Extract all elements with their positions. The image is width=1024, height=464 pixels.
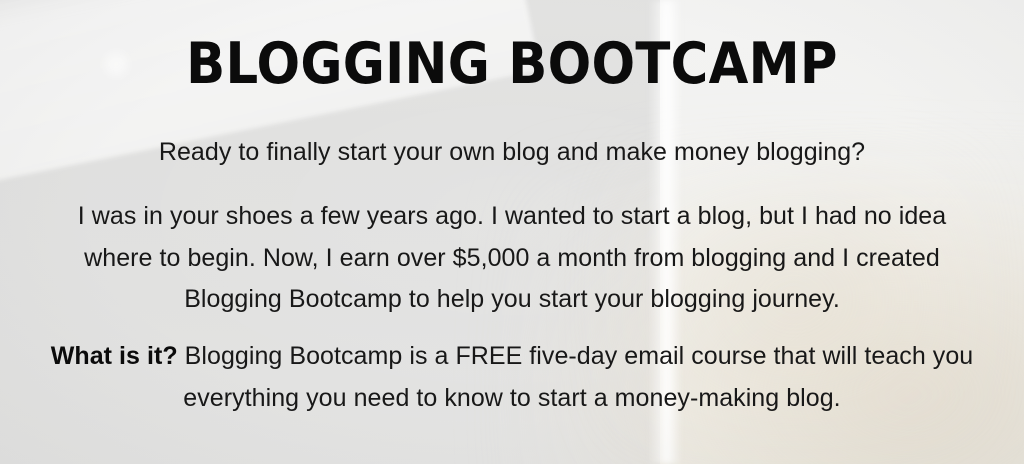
story-line-2: where to begin. Now, I earn over $5,000 …: [0, 238, 1024, 280]
offer-line-2: everything you need to know to start a m…: [0, 378, 1024, 420]
blogging-bootcamp-banner: BLOGGING BOOTCAMP Ready to finally start…: [0, 0, 1024, 464]
offer-line-1-text: Blogging Bootcamp is a FREE five-day ema…: [178, 342, 974, 370]
story-line-1: I was in your shoes a few years ago. I w…: [0, 196, 1024, 238]
story-paragraph: I was in your shoes a few years ago. I w…: [0, 196, 1024, 321]
offer-line-1: What is it? Blogging Bootcamp is a FREE …: [0, 336, 1024, 378]
page-title: BLOGGING BOOTCAMP: [0, 36, 1024, 93]
subheadline: Ready to finally start your own blog and…: [0, 136, 1024, 168]
offer-lead-in: What is it?: [51, 342, 178, 370]
banner-content: BLOGGING BOOTCAMP Ready to finally start…: [0, 0, 1024, 464]
story-line-3: Blogging Bootcamp to help you start your…: [0, 279, 1024, 321]
offer-paragraph: What is it? Blogging Bootcamp is a FREE …: [0, 336, 1024, 419]
